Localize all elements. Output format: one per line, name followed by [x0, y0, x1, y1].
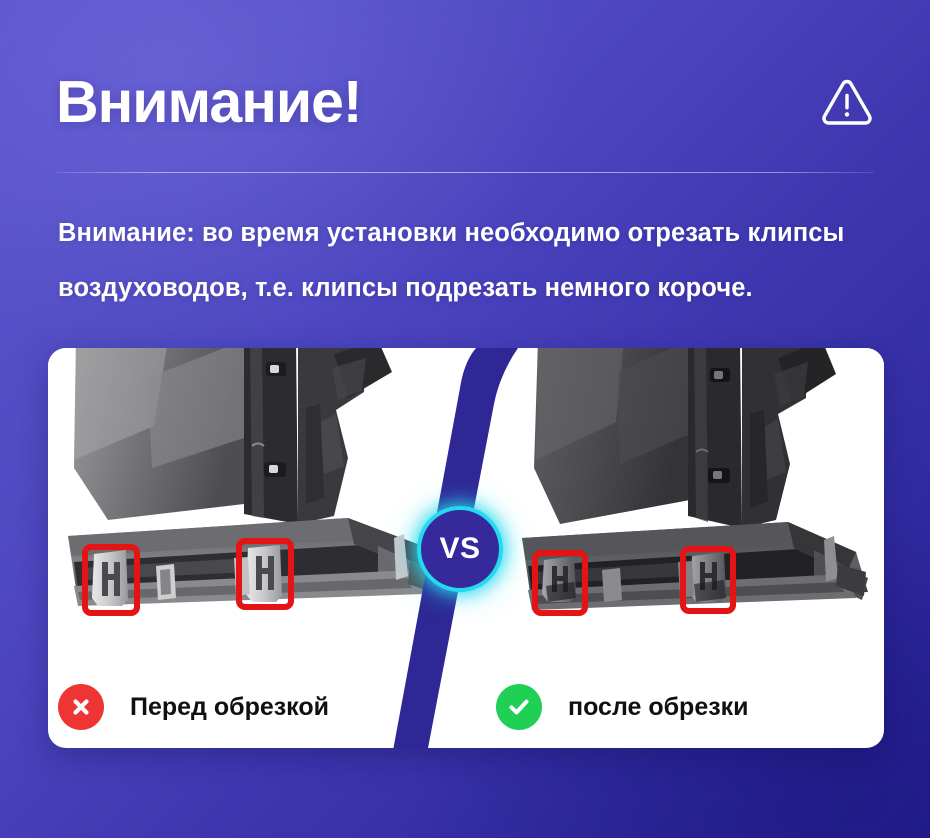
page-title: Внимание! — [56, 73, 362, 132]
caption-before: Перед обрезкой — [48, 666, 478, 748]
caption-after: после обрезки — [478, 666, 884, 748]
photo-after-cutting — [478, 348, 884, 666]
highlight-box-clip-left — [532, 550, 588, 616]
highlight-box-clip-right — [236, 538, 294, 610]
cross-circle-icon — [58, 684, 104, 730]
photo-before-cutting — [48, 348, 478, 666]
warning-triangle-icon — [819, 74, 875, 130]
check-circle-icon — [496, 684, 542, 730]
caption-after-label: после обрезки — [568, 693, 749, 722]
header-divider — [56, 172, 874, 173]
page-header: Внимание! — [0, 52, 930, 152]
caption-before-label: Перед обрезкой — [130, 693, 329, 722]
highlight-box-clip-right — [680, 546, 736, 614]
vs-badge: VS — [417, 506, 503, 592]
highlight-box-clip-left — [82, 544, 140, 616]
notice-text: Внимание: во время установки необходимо … — [58, 206, 872, 316]
